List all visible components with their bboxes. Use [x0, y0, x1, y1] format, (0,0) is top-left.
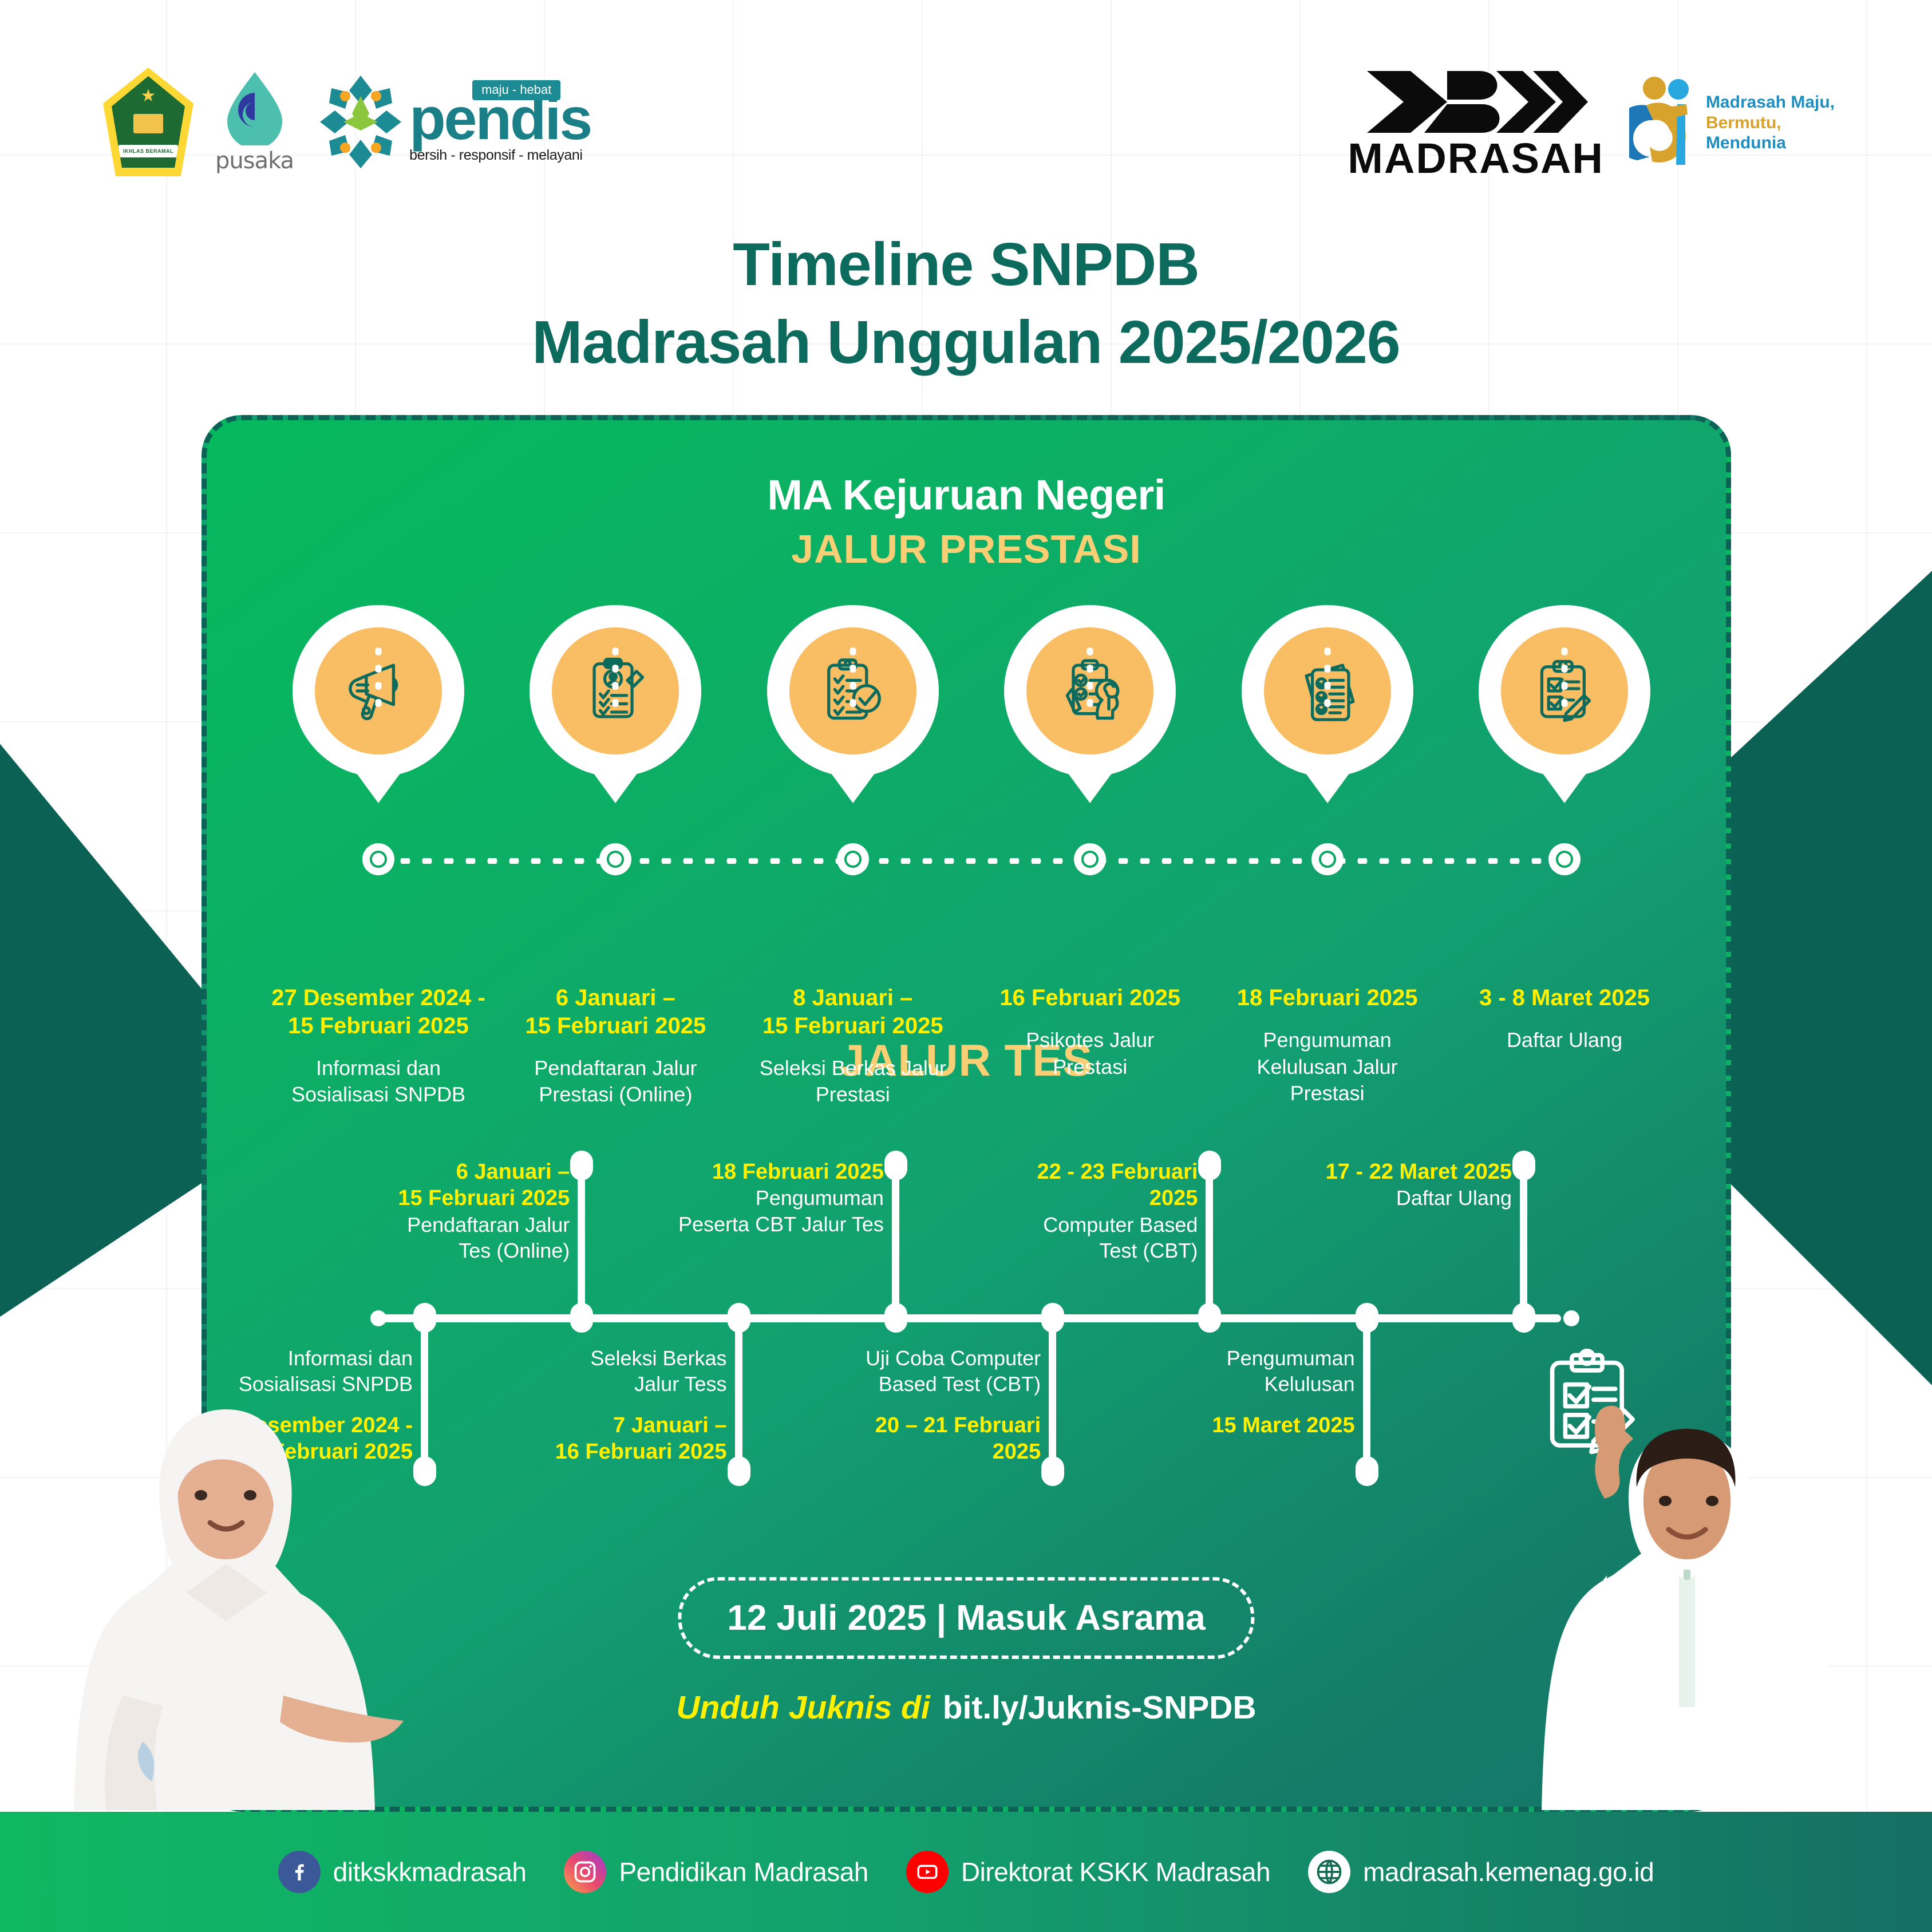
prestasi-marker-4 [1074, 843, 1106, 875]
tes-endpoint-dot [884, 1151, 907, 1180]
footer-label: madrasah.kemenag.go.id [1363, 1856, 1654, 1887]
tes-label-4: 18 Februari 2025PengumumanPeserta CBT Ja… [632, 1159, 884, 1237]
unduh-juknis: Unduh Juknis dibit.ly/Juknis-SNPDB [676, 1689, 1256, 1726]
book-icon [133, 114, 163, 133]
tes-date: 17 - 22 Maret 2025 [1260, 1159, 1512, 1185]
tes-axis-dot [884, 1303, 907, 1333]
tes-axis-cap-right [1563, 1310, 1579, 1326]
people-arc-icon [1629, 74, 1697, 171]
tes-desc: Daftar Ulang [1260, 1185, 1512, 1211]
tes-desc: Seleksi BerkasJalur Tess [475, 1345, 727, 1397]
prestasi-connector-6 [1562, 643, 1568, 710]
student-photo-right [1498, 1386, 1864, 1813]
prestasi-marker-6 [1548, 843, 1581, 875]
masuk-asrama-badge: 12 Juli 2025 | Masuk Asrama [678, 1577, 1254, 1659]
madrasah-wordmark: MADRASAH [1348, 140, 1604, 178]
tes-axis-dot [1512, 1303, 1535, 1333]
footer-label: Direktorat KSKK Madrasah [961, 1856, 1270, 1887]
prestasi-icon-row [207, 605, 1726, 794]
prestasi-desc: Daftar Ulang [1444, 1027, 1685, 1054]
tes-desc: Pendaftaran JalurTes (Online) [318, 1212, 570, 1264]
footer-item-3[interactable]: Direktorat KSKK Madrasah [906, 1851, 1270, 1893]
tes-endpoint-dot [1512, 1151, 1535, 1180]
tes-axis-dot [1041, 1303, 1064, 1333]
prestasi-marker-3 [837, 843, 869, 875]
prestasi-timeline: 27 Desember 2024 -15 Februari 2025Inform… [207, 605, 1726, 1040]
tes-label-7: PengumumanKelulusan15 Maret 2025 [1103, 1345, 1355, 1439]
prestasi-marker-2 [599, 843, 631, 875]
tes-axis-dot [1356, 1303, 1378, 1333]
tes-stem [1363, 1322, 1370, 1471]
tes-endpoint-dot [570, 1151, 593, 1180]
unduh-link[interactable]: bit.ly/Juknis-SNPDB [943, 1689, 1257, 1726]
pusaka-label: pusaka [215, 148, 294, 174]
footer-item-1[interactable]: ditkskkmadrasah [278, 1851, 527, 1893]
prestasi-label-5: 18 Februari 2025PengumumanKelulusan Jalu… [1207, 984, 1448, 1107]
tes-endpoint-dot [1198, 1151, 1221, 1180]
tes-endpoint-dot [728, 1456, 750, 1486]
prestasi-date: 6 Januari –15 Februari 2025 [495, 984, 736, 1040]
kemenag-logo: ★ IKHLAS BERAMAL [103, 68, 193, 176]
tes-label-8: 17 - 22 Maret 2025Daftar Ulang [1260, 1159, 1512, 1211]
tes-stem [578, 1164, 585, 1314]
prestasi-date: 8 Januari –15 Februari 2025 [733, 984, 973, 1040]
prestasi-marker-1 [362, 843, 394, 875]
prestasi-connector-2 [613, 643, 619, 710]
page-title-line-1: Timeline SNPDB [0, 226, 1932, 304]
prestasi-desc: PengumumanKelulusan JalurPrestasi [1207, 1027, 1448, 1107]
pendis-logo: maju - hebat pendis bersih - responsif -… [318, 73, 591, 171]
tes-desc: PengumumanKelulusan [1103, 1345, 1355, 1397]
prestasi-label-2: 6 Januari –15 Februari 2025Pendaftaran J… [495, 984, 736, 1108]
tes-axis-dot [728, 1303, 750, 1333]
tes-date: 20 – 21 Februari2025 [789, 1412, 1041, 1465]
star-icon: ★ [141, 88, 156, 105]
madrasah-maju-tagline: Madrasah Maju, Bermutu, Mendunia [1706, 92, 1835, 153]
tes-axis-dot [413, 1303, 436, 1333]
prestasi-desc: Psikotes JalurPrestasi [970, 1027, 1210, 1081]
instagram-icon[interactable] [564, 1851, 606, 1893]
logos-left-group: ★ IKHLAS BERAMAL pusaka [103, 68, 591, 176]
prestasi-date: 3 - 8 Maret 2025 [1444, 984, 1685, 1012]
tagline-line-3: Mendunia [1706, 133, 1835, 153]
prestasi-date: 27 Desember 2024 -15 Februari 2025 [258, 984, 499, 1040]
tes-endpoint-dot [1041, 1456, 1064, 1486]
pusaka-logo: pusaka [215, 70, 294, 174]
prestasi-label-4: 16 Februari 2025Psikotes JalurPrestasi [970, 984, 1210, 1080]
kemenag-ribbon-label: IKHLAS BERAMAL [118, 145, 178, 157]
tes-desc: Uji Coba ComputerBased Test (CBT) [789, 1345, 1041, 1397]
female-student-illustration [54, 1375, 455, 1810]
madrasah-chevron-icon [1361, 68, 1590, 136]
card-heading-sub: JALUR PRESTASI [207, 526, 1726, 572]
male-student-illustration [1498, 1386, 1864, 1810]
website-icon[interactable] [1308, 1851, 1350, 1893]
prestasi-label-1: 27 Desember 2024 -15 Februari 2025Inform… [258, 984, 499, 1108]
card-heading: MA Kejuruan Negeri JALUR PRESTASI [207, 420, 1726, 572]
tes-stem [1206, 1164, 1213, 1314]
prestasi-date: 18 Februari 2025 [1207, 984, 1448, 1012]
tes-desc: Computer BasedTest (CBT) [946, 1212, 1198, 1264]
prestasi-date: 16 Februari 2025 [970, 984, 1210, 1012]
prestasi-marker-5 [1311, 843, 1344, 875]
pendis-badge-label: maju - hebat [472, 80, 560, 100]
page-title: Timeline SNPDB Madrasah Unggulan 2025/20… [0, 226, 1932, 381]
tes-endpoint-dot [1356, 1456, 1378, 1486]
prestasi-connector-5 [1324, 643, 1330, 710]
tes-stem [735, 1322, 742, 1471]
prestasi-label-6: 3 - 8 Maret 2025Daftar Ulang [1444, 984, 1685, 1054]
student-photo-left [54, 1375, 455, 1813]
pusaka-droplet-icon [223, 70, 287, 145]
footer-social-bar: ditkskkmadrasahPendidikan MadrasahDirekt… [0, 1812, 1932, 1932]
tes-stem [1049, 1322, 1056, 1471]
prestasi-connector-4 [1087, 643, 1093, 710]
prestasi-label-3: 8 Januari –15 Februari 2025Seleksi Berka… [733, 984, 973, 1108]
tes-label-3: Seleksi BerkasJalur Tess7 Januari –16 Fe… [475, 1345, 727, 1465]
tes-date: 6 Januari –15 Februari 2025 [318, 1159, 570, 1212]
prestasi-desc: Informasi danSosialisasi SNPDB [258, 1055, 499, 1109]
madrasah-logo: MADRASAH [1348, 68, 1604, 178]
madrasah-maju-logo: Madrasah Maju, Bermutu, Mendunia [1629, 74, 1835, 171]
card-heading-main: MA Kejuruan Negeri [207, 471, 1726, 519]
logos-right-group: MADRASAH Madrasah Maju, Bermutu, Menduni… [1348, 68, 1835, 178]
prestasi-connector-3 [850, 643, 856, 710]
tes-axis-line [378, 1314, 1561, 1322]
pendis-wordmark: pendis [409, 93, 591, 146]
youtube-icon[interactable] [906, 1851, 949, 1893]
prestasi-connector-1 [376, 643, 382, 710]
page-title-line-2: Madrasah Unggulan 2025/2026 [0, 304, 1932, 382]
footer-item-4[interactable]: madrasah.kemenag.go.id [1308, 1851, 1654, 1893]
tes-label-6: 22 - 23 Februari2025Computer BasedTest (… [946, 1159, 1198, 1263]
tes-axis-dot [570, 1303, 593, 1333]
tes-date: 7 Januari –16 Februari 2025 [475, 1412, 727, 1465]
tes-desc: PengumumanPeserta CBT Jalur Tes [632, 1185, 884, 1237]
tes-date: 15 Maret 2025 [1103, 1412, 1355, 1439]
tes-date: 22 - 23 Februari2025 [946, 1159, 1198, 1212]
tes-node-6: 22 - 23 Februari2025Computer BasedTest (… [1209, 1101, 1210, 1525]
footer-item-2[interactable]: Pendidikan Madrasah [564, 1851, 868, 1893]
prestasi-desc: Seleksi Berkas JalurPrestasi [733, 1055, 973, 1109]
prestasi-desc: Pendaftaran JalurPrestasi (Online) [495, 1055, 736, 1109]
tagline-line-1: Madrasah Maju, [1706, 92, 1835, 112]
tes-label-2: 6 Januari –15 Februari 2025Pendaftaran J… [318, 1159, 570, 1263]
footer-label: ditkskkmadrasah [333, 1856, 527, 1887]
prestasi-axis [207, 843, 1726, 878]
prestasi-axis-dotted-line [373, 858, 1560, 864]
pendis-tagline: bersih - responsif - melayani [409, 147, 591, 164]
tes-label-5: Uji Coba ComputerBased Test (CBT)20 – 21… [789, 1345, 1041, 1465]
tes-axis-dot [1198, 1303, 1221, 1333]
tes-stem [1520, 1164, 1527, 1314]
tes-date: 18 Februari 2025 [632, 1159, 884, 1185]
unduh-label: Unduh Juknis di [676, 1689, 930, 1726]
tes-stem [892, 1164, 899, 1314]
footer-label: Pendidikan Madrasah [619, 1856, 868, 1887]
header-logos: ★ IKHLAS BERAMAL pusaka [0, 0, 1932, 212]
tagline-line-2: Bermutu, [1706, 113, 1835, 133]
pendis-ornament-icon [318, 73, 404, 171]
tes-axis-cap-left [370, 1310, 386, 1326]
facebook-icon[interactable] [278, 1851, 321, 1893]
